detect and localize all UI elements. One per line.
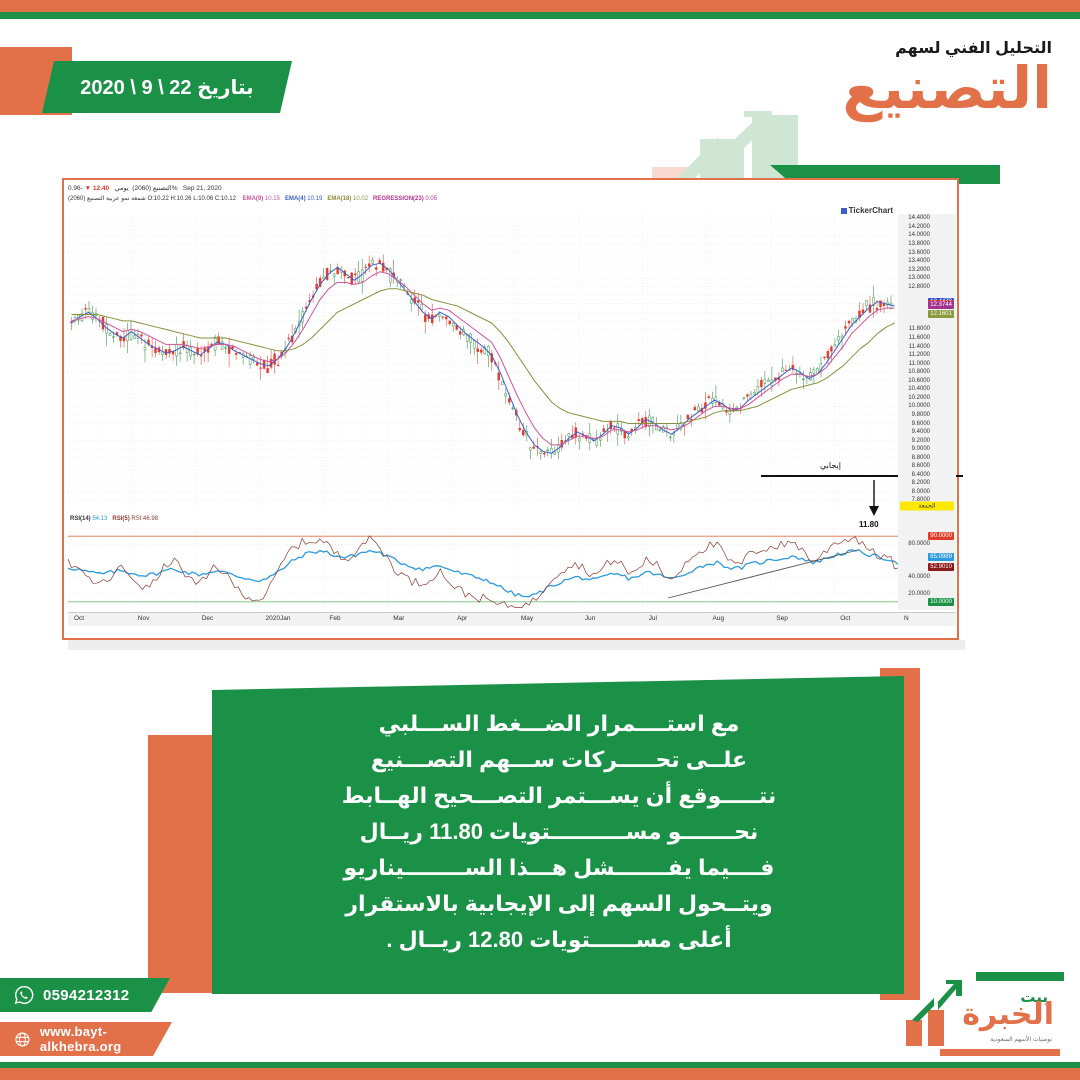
analysis-line: مع استــــمرار الضـــغط الســـلبي	[236, 706, 882, 742]
price-axis-tick: 8.6000	[912, 463, 930, 469]
header-title: التصنيع	[843, 59, 1052, 120]
target-arrow-icon	[859, 480, 889, 520]
indicator-regression-label: REGRESSION(23)	[373, 196, 424, 202]
chart-last-price: 12.40	[93, 185, 109, 192]
logo-top-bar	[976, 972, 1064, 981]
rsi-axis-tag: 65.0989	[928, 553, 954, 561]
price-axis-tick: 13.4000	[908, 258, 930, 264]
chart-symbol-name: التصنيع	[153, 185, 172, 192]
whatsapp-number: 0594212312	[43, 987, 129, 1004]
indicator-ema9-value: 10.15	[265, 196, 280, 202]
globe-icon	[14, 1030, 31, 1049]
analysis-line: أعلى مســــــتويات 12.80 ريــال .	[236, 922, 882, 958]
date-axis-tick: Mar	[393, 615, 404, 622]
date-axis-tick: Jul	[649, 615, 657, 622]
tickerchart-logo-icon	[841, 208, 847, 214]
bottom-orange-bar	[0, 1068, 1080, 1080]
price-axis-tick: 11.2000	[909, 352, 930, 358]
analysis-text: مع استــــمرار الضـــغط الســـلبيعلــى ت…	[236, 706, 882, 958]
chart-header: التصنيع (2060) يومي 12.40 ▼ -0.96% Sep 2…	[68, 183, 953, 213]
date-axis-tick: Sep	[776, 615, 788, 622]
price-axis-tick: 10.0000	[908, 403, 930, 409]
price-axis-tick: 9.8000	[912, 412, 930, 418]
whatsapp-icon	[14, 985, 34, 1005]
price-axis-tick: 14.4000	[908, 215, 930, 221]
rsi-header: RSI(14) 54.13 RSI(5) RSI:46.98	[70, 516, 158, 522]
price-axis-tick: 8.0000	[912, 489, 930, 495]
date-axis-tick: Feb	[329, 615, 340, 622]
resistance-label: إيجابي	[820, 461, 841, 470]
company-logo[interactable]: بيت الخبرة توصيات الأسهم السعودية	[896, 970, 1064, 1058]
chart-low: L:10.06	[193, 196, 213, 202]
date-axis-tick: Jun	[585, 615, 595, 622]
indicator-regression-value: 0.05	[425, 196, 437, 202]
analysis-line: ويتــحول السهم إلى الإيجابية بالاستقرار	[236, 886, 882, 922]
price-chart-svg	[68, 214, 898, 509]
price-axis-tick: 11.8000	[909, 326, 930, 332]
header-title-block: التحليل الفني لسهم التصنيع	[843, 41, 1052, 120]
analysis-line: نحـــــــو مســــــــــتويات 11.80 ريــا…	[236, 814, 882, 850]
price-axis-tick: 8.8000	[912, 455, 930, 461]
logo-tagline: توصيات الأسهم السعودية	[990, 1036, 1052, 1043]
price-axis-tick: 13.6000	[908, 250, 930, 256]
price-axis-tick: 14.0000	[908, 232, 930, 238]
header-subtitle: التحليل الفني لسهم	[843, 41, 1052, 57]
indicator-ema4-value: 10.19	[307, 196, 322, 202]
price-axis-tick: 10.6000	[908, 378, 930, 384]
rsi14-label: RSI(14)	[70, 516, 91, 522]
price-axis-tick: 11.0000	[909, 361, 930, 367]
rsi-axis-tag: 90.0000	[928, 532, 954, 540]
price-axis-tick: 13.2000	[908, 267, 930, 273]
analysis-line: نتـــــوقع أن يســـتمر التصـــحيح الهــا…	[236, 778, 882, 814]
rsi5-label: RSI(5)	[112, 516, 129, 522]
date-axis-tick: N	[904, 615, 909, 622]
date-axis-tick: Aug	[713, 615, 725, 622]
website-url: www.bayt-alkhebra.org	[40, 1024, 172, 1054]
price-axis-tick: 10.2000	[908, 395, 930, 401]
date-axis-tick: Dec	[202, 615, 214, 622]
rsi-axis-tick: 20.0000	[908, 591, 930, 597]
chart-date: Sep 21, 2020	[183, 185, 222, 192]
chart-high: H:10.26	[171, 196, 192, 202]
top-green-bar	[0, 12, 1080, 19]
date-axis-tick: Oct	[74, 615, 84, 622]
date-axis-tick: Nov	[138, 615, 150, 622]
chart-header-line-2: شمعة نمو عربية التصنيع (2060) O:10.22 H:…	[68, 194, 953, 205]
rsi5-value: RSI:46.98	[131, 516, 158, 522]
price-axis-tag: 12.3744	[928, 301, 954, 309]
rsi-axis-tag: 10.0000	[928, 598, 954, 606]
price-axis-bottom-tag: الجمعة	[900, 502, 954, 511]
analysis-line: علــى تحـــــركات ســـهم التصـــنيع	[236, 742, 882, 778]
price-axis-tick: 13.8000	[908, 241, 930, 247]
price-axis-tick: 8.2000	[912, 480, 930, 486]
website-contact[interactable]: www.bayt-alkhebra.org	[0, 1022, 172, 1056]
price-axis-tick: 9.0000	[912, 446, 930, 452]
header: بتاريخ 22 \ 9 \ 2020 التحليل الفني لسهم …	[0, 19, 1080, 184]
chart-close: C:10.12	[215, 196, 236, 202]
date-axis-tick: Oct	[840, 615, 850, 622]
date-badge-label: بتاريخ 22 \ 9 \ 2020	[48, 61, 286, 113]
date-axis: OctNovDec2020JanFebMarAprMayJunJulAugSep…	[68, 612, 956, 626]
price-axis-tick: 9.4000	[912, 429, 930, 435]
rsi-chart-svg	[68, 528, 898, 610]
indicator-ema18-value: 10.02	[353, 196, 368, 202]
price-axis-tick: 8.4000	[912, 472, 930, 478]
logo-line-2: الخبرة	[962, 1000, 1054, 1030]
date-axis-tick: 2020Jan	[266, 615, 291, 622]
logo-bottom-bar	[940, 1049, 1060, 1056]
price-axis-tick: 10.4000	[908, 386, 930, 392]
chart-direction-arrow-icon: ▼	[85, 185, 91, 192]
rsi-axis-tag: 52.9010	[928, 563, 954, 571]
whatsapp-contact[interactable]: 0594212312	[0, 978, 170, 1012]
price-axis-tag: 12.1601	[928, 310, 954, 318]
date-axis-tick: May	[521, 615, 533, 622]
price-chart-pane[interactable]	[68, 214, 898, 509]
indicator-ema9-label: EMA(9)	[243, 196, 264, 202]
price-axis-tick: 10.8000	[908, 369, 930, 375]
price-axis-tick: 11.6000	[909, 335, 930, 341]
analysis-line: فــــيما يفـــــــشل هـــذا الســــــــي…	[236, 850, 882, 886]
price-axis-tick: 13.0000	[908, 275, 930, 281]
price-axis-tick: 9.6000	[912, 421, 930, 427]
indicator-ema18-label: EMA(18)	[327, 196, 351, 202]
indicator-ema4-label: EMA(4)	[285, 196, 306, 202]
rsi14-value: 54.13	[92, 516, 107, 522]
date-axis-tick: Apr	[457, 615, 467, 622]
top-orange-bar	[0, 0, 1080, 12]
price-axis-tick: 11.4000	[909, 344, 930, 350]
rsi-axis-tick: 40.0000	[908, 574, 930, 580]
price-axis-tick: 12.8000	[908, 284, 930, 290]
price-axis: 14.400014.200014.000013.800013.600013.40…	[898, 214, 956, 610]
chart-ohlc-prefix: شمعة نمو عربية التصنيع (2060)	[68, 196, 146, 202]
price-axis-tick: 14.2000	[908, 224, 930, 230]
chart-header-line-1: التصنيع (2060) يومي 12.40 ▼ -0.96% Sep 2…	[68, 183, 953, 194]
rsi-axis-tick: 80.0000	[908, 541, 930, 547]
chart-open: O:10.22	[147, 196, 168, 202]
chart-symbol-code: (2060)	[132, 185, 151, 192]
chart-card-shadow	[68, 640, 965, 650]
chart-timeframe: يومي	[115, 185, 129, 192]
rsi-chart-pane[interactable]	[68, 528, 898, 610]
price-axis-tick: 9.2000	[912, 438, 930, 444]
chart-card: التصنيع (2060) يومي 12.40 ▼ -0.96% Sep 2…	[62, 178, 959, 640]
